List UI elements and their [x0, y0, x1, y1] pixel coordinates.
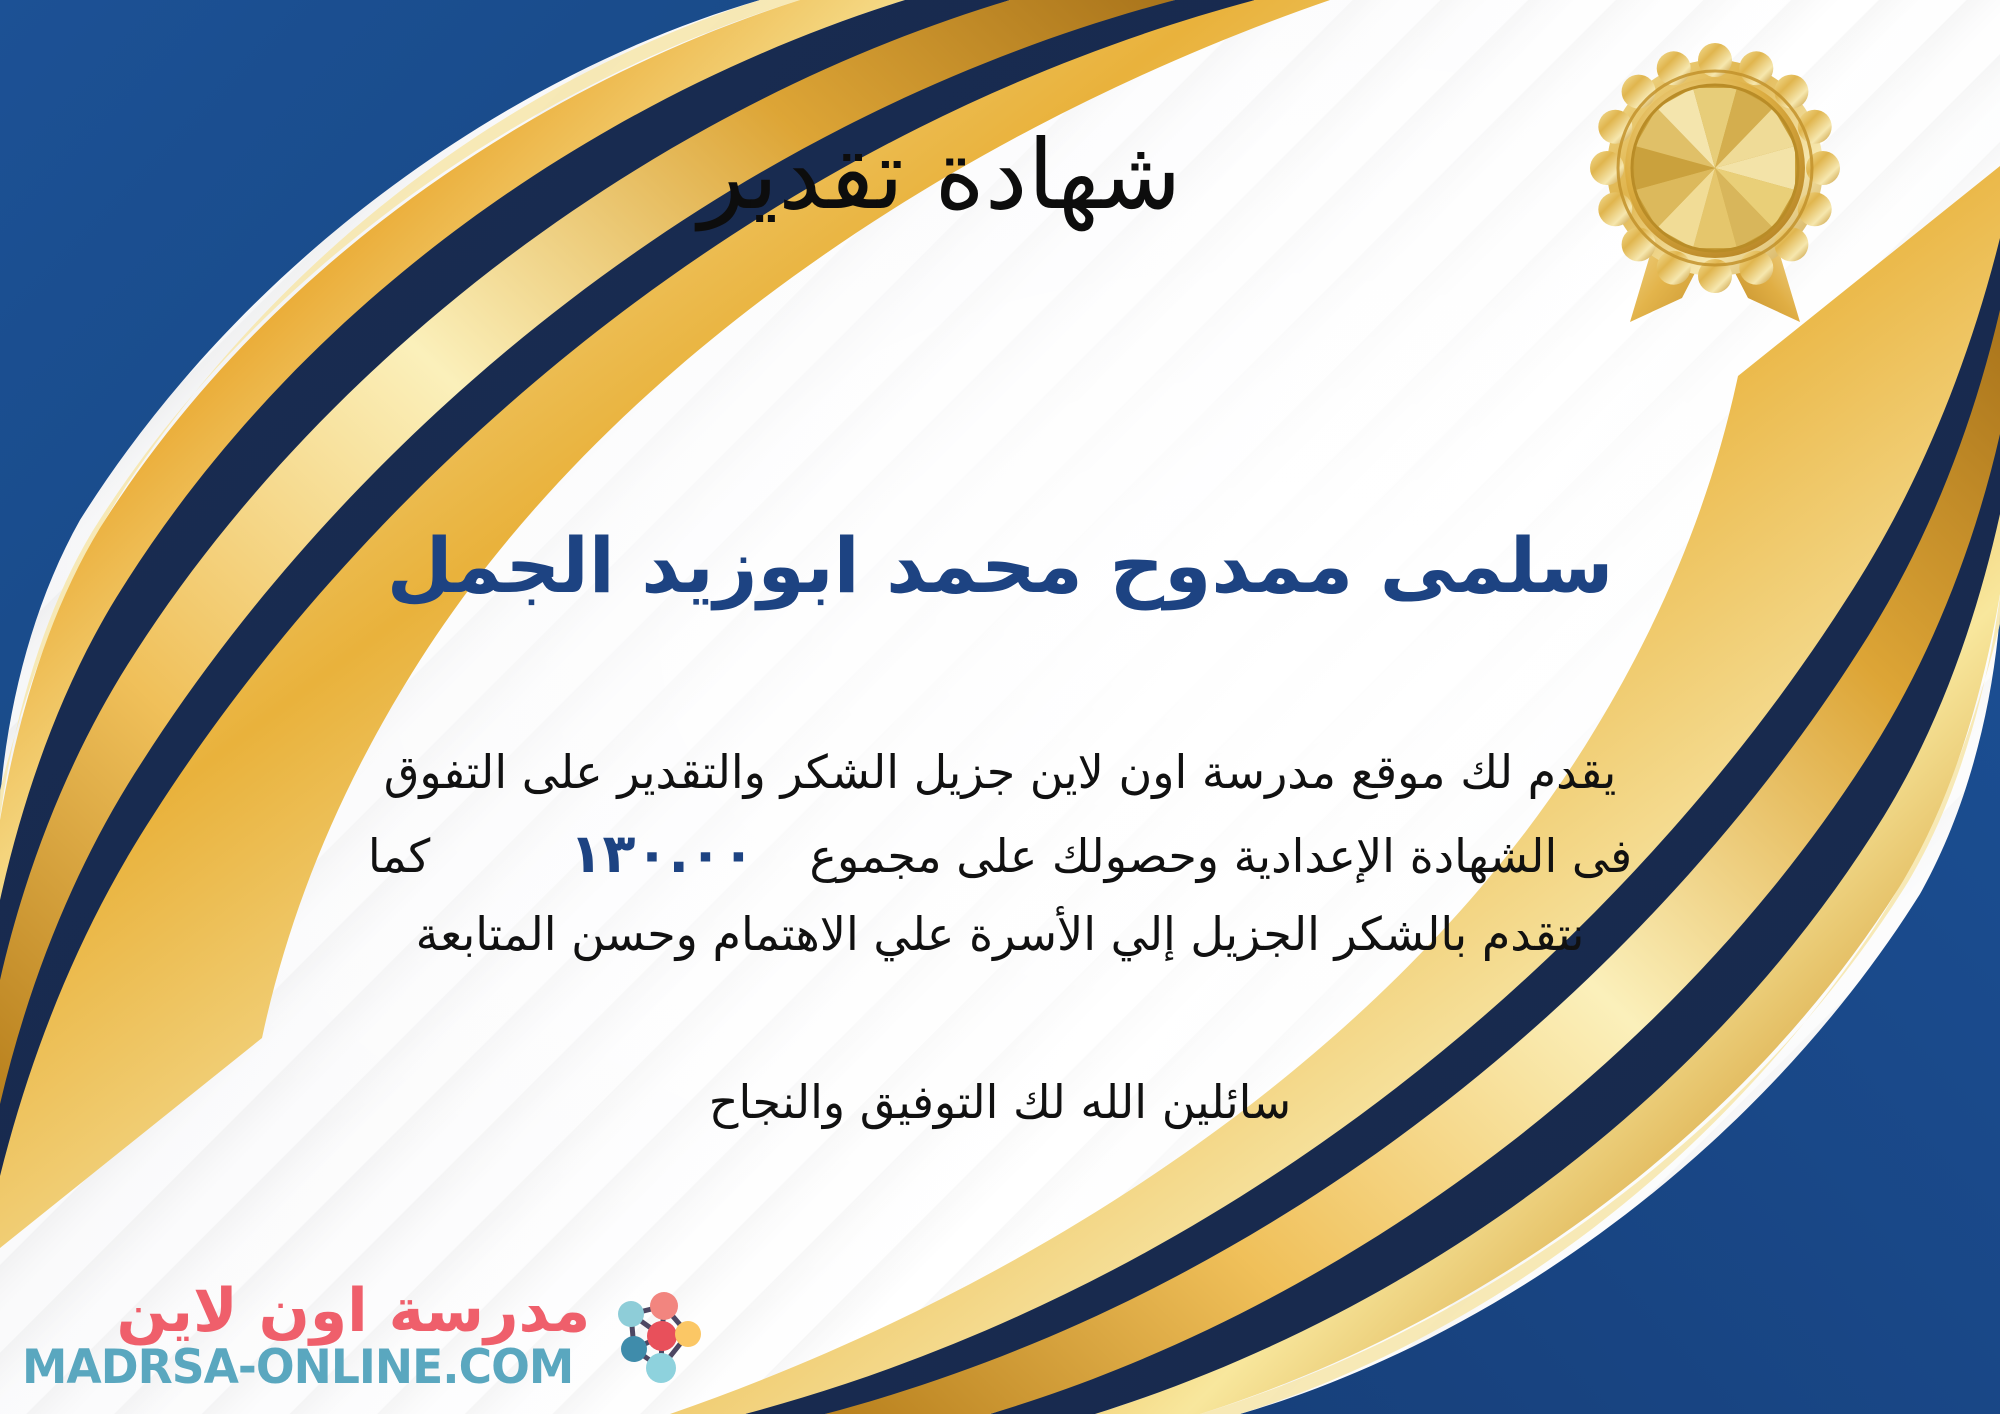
- certificate-body: يقدم لك موقع مدرسة اون لاين جزيل الشكر و…: [60, 735, 1940, 972]
- closing-wish: سائلين الله لك التوفيق والنجاح: [0, 1075, 2000, 1129]
- body-line-3: نتقدم بالشكر الجزيل إلي الأسرة علي الاهت…: [60, 897, 1940, 972]
- logo-wordmark: مدرسة اون لاين MADRSA-ONLINE.COM: [22, 1280, 590, 1392]
- body-line-2-prefix: فى الشهادة الإعدادية وحصولك على مجموع: [810, 829, 1633, 883]
- student-name: سلمى ممدوح محمد ابوزيد الجمل: [0, 520, 2000, 611]
- network-nodes-icon: [596, 1276, 716, 1396]
- certificate-canvas: شهادة تقدير سلمى ممدوح محمد ابوزيد الجمل…: [0, 0, 2000, 1414]
- body-line-2-suffix: كما: [368, 829, 431, 883]
- logo-arabic-text: مدرسة اون لاين: [117, 1280, 591, 1343]
- certificate-title: شهادة تقدير: [0, 120, 2000, 230]
- body-line-1: يقدم لك موقع مدرسة اون لاين جزيل الشكر و…: [60, 735, 1940, 810]
- site-logo[interactable]: مدرسة اون لاين MADRSA-ONLINE.COM: [22, 1276, 716, 1396]
- grade-total-value: ١٣٠.٠٠: [530, 822, 795, 885]
- logo-domain-text: MADRSA-ONLINE.COM: [22, 1343, 573, 1392]
- body-line-2: فى الشهادة الإعدادية وحصولك على مجموع ١٣…: [60, 810, 1940, 897]
